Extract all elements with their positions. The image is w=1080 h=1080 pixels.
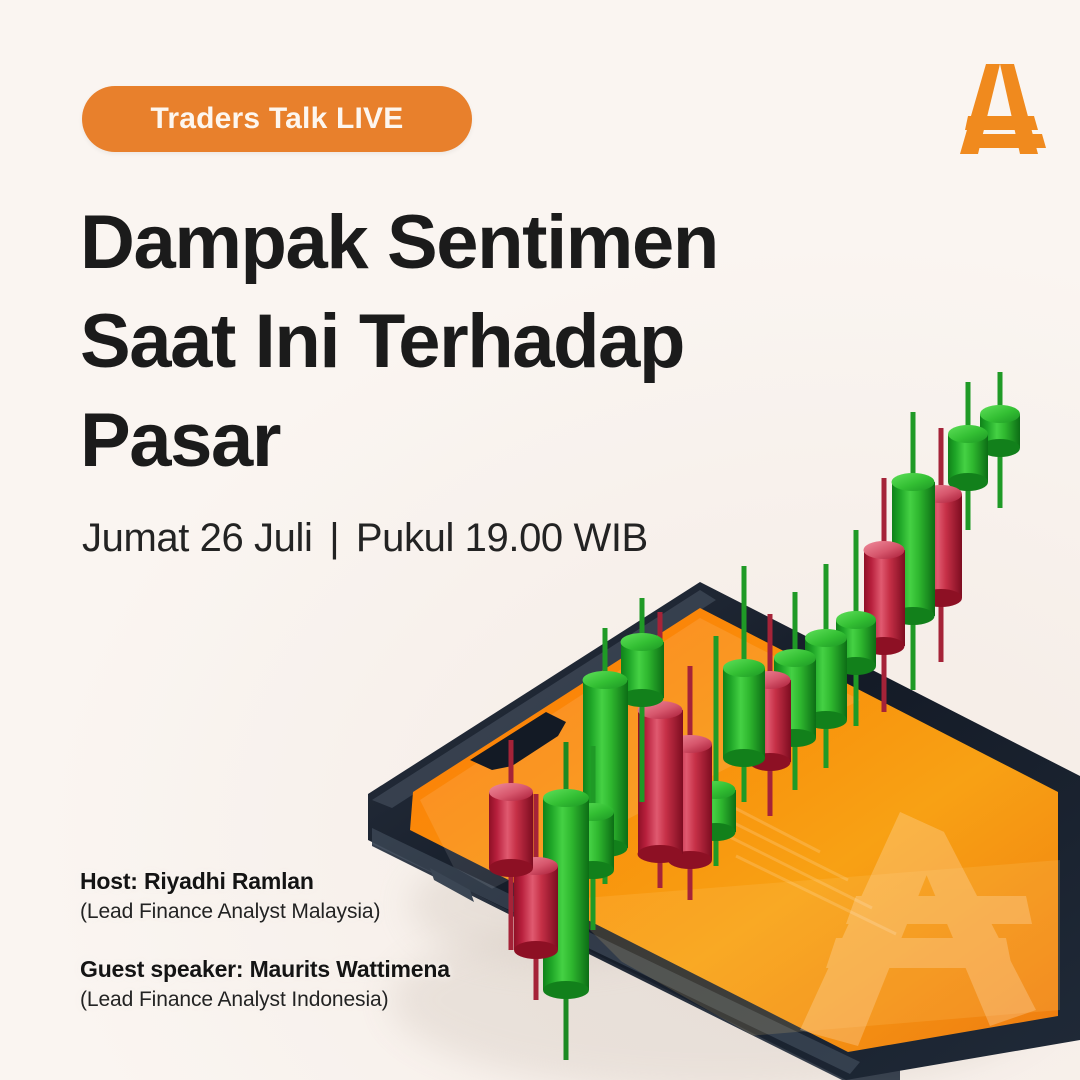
host-name: Host: Riyadhi Ramlan xyxy=(80,866,450,897)
schedule-time: Pukul 19.00 WIB xyxy=(356,516,648,560)
host-credit: Host: Riyadhi Ramlan (Lead Finance Analy… xyxy=(80,866,450,926)
host-role: (Lead Finance Analyst Malaysia) xyxy=(80,897,450,926)
credits-block: Host: Riyadhi Ramlan (Lead Finance Analy… xyxy=(80,866,450,1043)
live-badge[interactable]: Traders Talk LIVE xyxy=(82,86,472,152)
guest-name: Guest speaker: Maurits Wattimena xyxy=(80,954,450,985)
schedule-date: Jumat 26 Juli xyxy=(82,516,312,560)
brand-logo[interactable] xyxy=(942,58,1050,158)
octa-a-logo-icon xyxy=(942,58,1050,158)
headline-line-1: Dampak Sentimen xyxy=(80,194,840,293)
live-badge-label: Traders Talk LIVE xyxy=(151,102,404,136)
schedule-separator: | xyxy=(323,516,345,560)
headline-line-2: Saat Ini Terhadap xyxy=(80,293,840,392)
guest-role: (Lead Finance Analyst Indonesia) xyxy=(80,985,450,1014)
poster-canvas: Traders Talk LIVE Dampak Sentimen Saat I… xyxy=(0,0,1080,1080)
schedule-line: Jumat 26 Juli | Pukul 19.00 WIB xyxy=(82,516,648,561)
headline-line-3: Pasar xyxy=(80,392,840,491)
guest-credit: Guest speaker: Maurits Wattimena (Lead F… xyxy=(80,954,450,1014)
page-title: Dampak Sentimen Saat Ini Terhadap Pasar xyxy=(80,194,840,490)
